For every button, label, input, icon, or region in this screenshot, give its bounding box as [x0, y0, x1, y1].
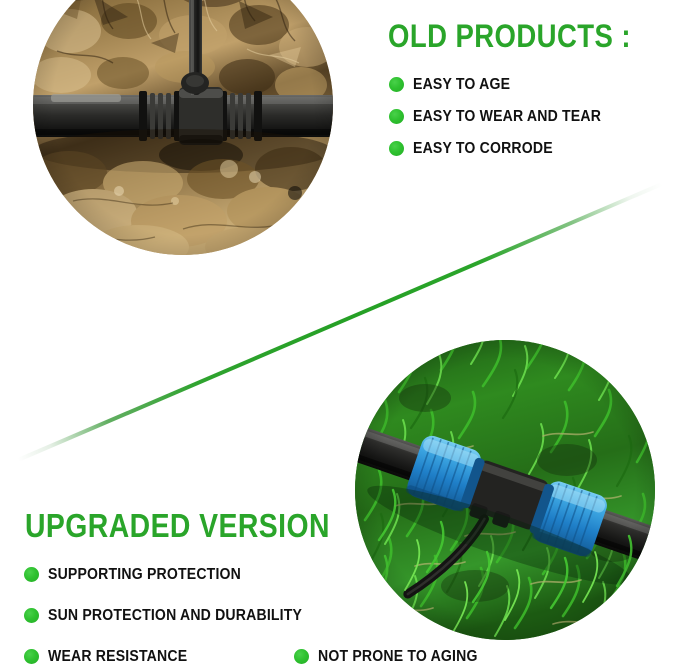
- list-item-label: NOT PRONE TO AGING: [318, 648, 478, 665]
- list-item-label: EASY TO CORRODE: [413, 140, 553, 157]
- list-item: WEAR RESISTANCE NOT PRONE TO AGING: [24, 648, 500, 665]
- bullet-dot-icon: [389, 109, 404, 124]
- bullet-dot-icon: [389, 141, 404, 156]
- bullet-dot-icon: [24, 608, 39, 623]
- bullet-dot-icon: [389, 77, 404, 92]
- upgraded-version-heading: UPGRADED VERSION: [25, 508, 330, 543]
- soil-pipe-photo: [33, 0, 333, 255]
- list-item-label: SUN PROTECTION AND DURABILITY: [48, 607, 302, 624]
- list-item: SUN PROTECTION AND DURABILITY: [24, 607, 500, 624]
- product-comparison-graphic: OLD PRODUCTS : EASY TO AGE EASY TO WEAR …: [0, 0, 679, 667]
- list-item: SUPPORTING PROTECTION: [24, 566, 500, 583]
- list-item-label: SUPPORTING PROTECTION: [48, 566, 241, 583]
- old-products-list: EASY TO AGE EASY TO WEAR AND TEAR EASY T…: [389, 76, 627, 157]
- bullet-dot-icon: [24, 567, 39, 582]
- bullet-dot-icon: [24, 649, 39, 664]
- list-item-label: WEAR RESISTANCE: [48, 648, 187, 665]
- upgraded-version-list: SUPPORTING PROTECTION SUN PROTECTION AND…: [24, 566, 500, 665]
- old-products-heading: OLD PRODUCTS :: [388, 19, 631, 53]
- list-item: EASY TO CORRODE: [389, 140, 627, 157]
- list-item: EASY TO WEAR AND TEAR: [389, 108, 627, 125]
- list-item-label: EASY TO WEAR AND TEAR: [413, 108, 601, 125]
- list-item-label: EASY TO AGE: [413, 76, 510, 93]
- bullet-dot-icon: [294, 649, 309, 664]
- list-item: EASY TO AGE: [389, 76, 627, 93]
- old-product-photo: [33, 0, 333, 255]
